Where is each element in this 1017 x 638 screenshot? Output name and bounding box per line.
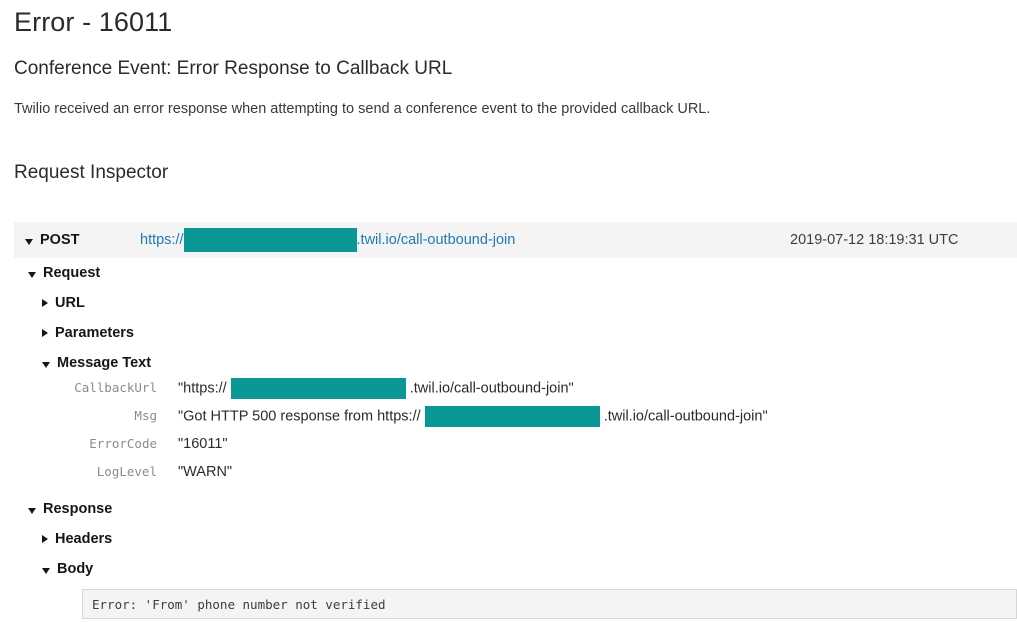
chevron-down-icon <box>28 508 36 514</box>
field-key: CallbackUrl <box>0 380 157 395</box>
tree-node-body[interactable]: Body <box>0 554 1017 584</box>
chevron-down-icon <box>42 568 50 574</box>
field-value-prefix: "Got HTTP 500 response from https:// <box>178 408 421 424</box>
tree-node-response-label: Response <box>43 501 112 517</box>
redacted-domain-block <box>184 228 357 252</box>
table-row: CallbackUrl "https:// .twil.io/call-outb… <box>0 378 1017 406</box>
tree-node-parameters-label: Parameters <box>55 325 134 341</box>
response-body-code-block: Error: 'From' phone number not verified <box>82 589 1017 619</box>
chevron-down-icon <box>28 272 36 278</box>
redacted-domain-block <box>425 406 600 427</box>
chevron-down-icon <box>25 239 33 245</box>
response-body-text: Error: 'From' phone number not verified <box>83 597 386 612</box>
tree-node-url-label: URL <box>55 295 85 311</box>
chevron-right-icon <box>42 535 48 543</box>
tree-node-url[interactable]: URL <box>0 288 1017 318</box>
request-header-row[interactable]: POST https:// .twil.io/call-outbound-joi… <box>14 222 1017 258</box>
tree-node-response[interactable]: Response <box>0 494 1017 524</box>
error-page: Error - 16011 Conference Event: Error Re… <box>0 0 1017 184</box>
tree-node-body-label: Body <box>57 561 93 577</box>
redacted-domain-block <box>231 378 406 399</box>
tree-node-parameters[interactable]: Parameters <box>0 318 1017 348</box>
tree-node-headers-label: Headers <box>55 531 112 547</box>
field-value-prefix: "https:// <box>178 380 227 396</box>
tree-node-request-label: Request <box>43 265 100 281</box>
chevron-right-icon <box>42 329 48 337</box>
request-url-link[interactable]: https:// .twil.io/call-outbound-join <box>140 228 515 252</box>
section-title-request-inspector: Request Inspector <box>14 119 1003 184</box>
field-value: "https:// .twil.io/call-outbound-join" <box>157 378 574 399</box>
field-key: Msg <box>0 408 157 423</box>
request-method-toggle[interactable]: POST <box>14 232 140 248</box>
field-value: "16011" <box>157 434 228 454</box>
request-inspector: POST https:// .twil.io/call-outbound-joi… <box>0 222 1017 619</box>
chevron-down-icon <box>42 362 50 368</box>
tree-node-message-text[interactable]: Message Text <box>0 348 1017 378</box>
request-timestamp: 2019-07-12 18:19:31 UTC <box>790 232 958 248</box>
error-subtitle: Conference Event: Error Response to Call… <box>14 37 1003 80</box>
request-url-suffix: .twil.io/call-outbound-join <box>357 232 516 248</box>
field-value-suffix: .twil.io/call-outbound-join" <box>410 380 574 396</box>
tree-node-headers[interactable]: Headers <box>0 524 1017 554</box>
page-title: Error - 16011 <box>14 0 1003 37</box>
chevron-right-icon <box>42 299 48 307</box>
tree-node-request[interactable]: Request <box>0 258 1017 288</box>
table-row: LogLevel "WARN" <box>0 462 1017 490</box>
table-row: Msg "Got HTTP 500 response from https://… <box>0 406 1017 434</box>
field-value: "WARN" <box>157 462 232 482</box>
field-value-suffix: .twil.io/call-outbound-join" <box>604 408 768 424</box>
field-value: "Got HTTP 500 response from https:// .tw… <box>157 406 768 427</box>
request-method-label: POST <box>40 232 79 248</box>
tree-node-message-text-label: Message Text <box>57 355 151 371</box>
field-key: LogLevel <box>0 464 157 479</box>
table-row: ErrorCode "16011" <box>0 434 1017 462</box>
request-url-prefix: https:// <box>140 232 184 248</box>
field-key: ErrorCode <box>0 436 157 451</box>
error-description: Twilio received an error response when a… <box>14 80 1003 119</box>
